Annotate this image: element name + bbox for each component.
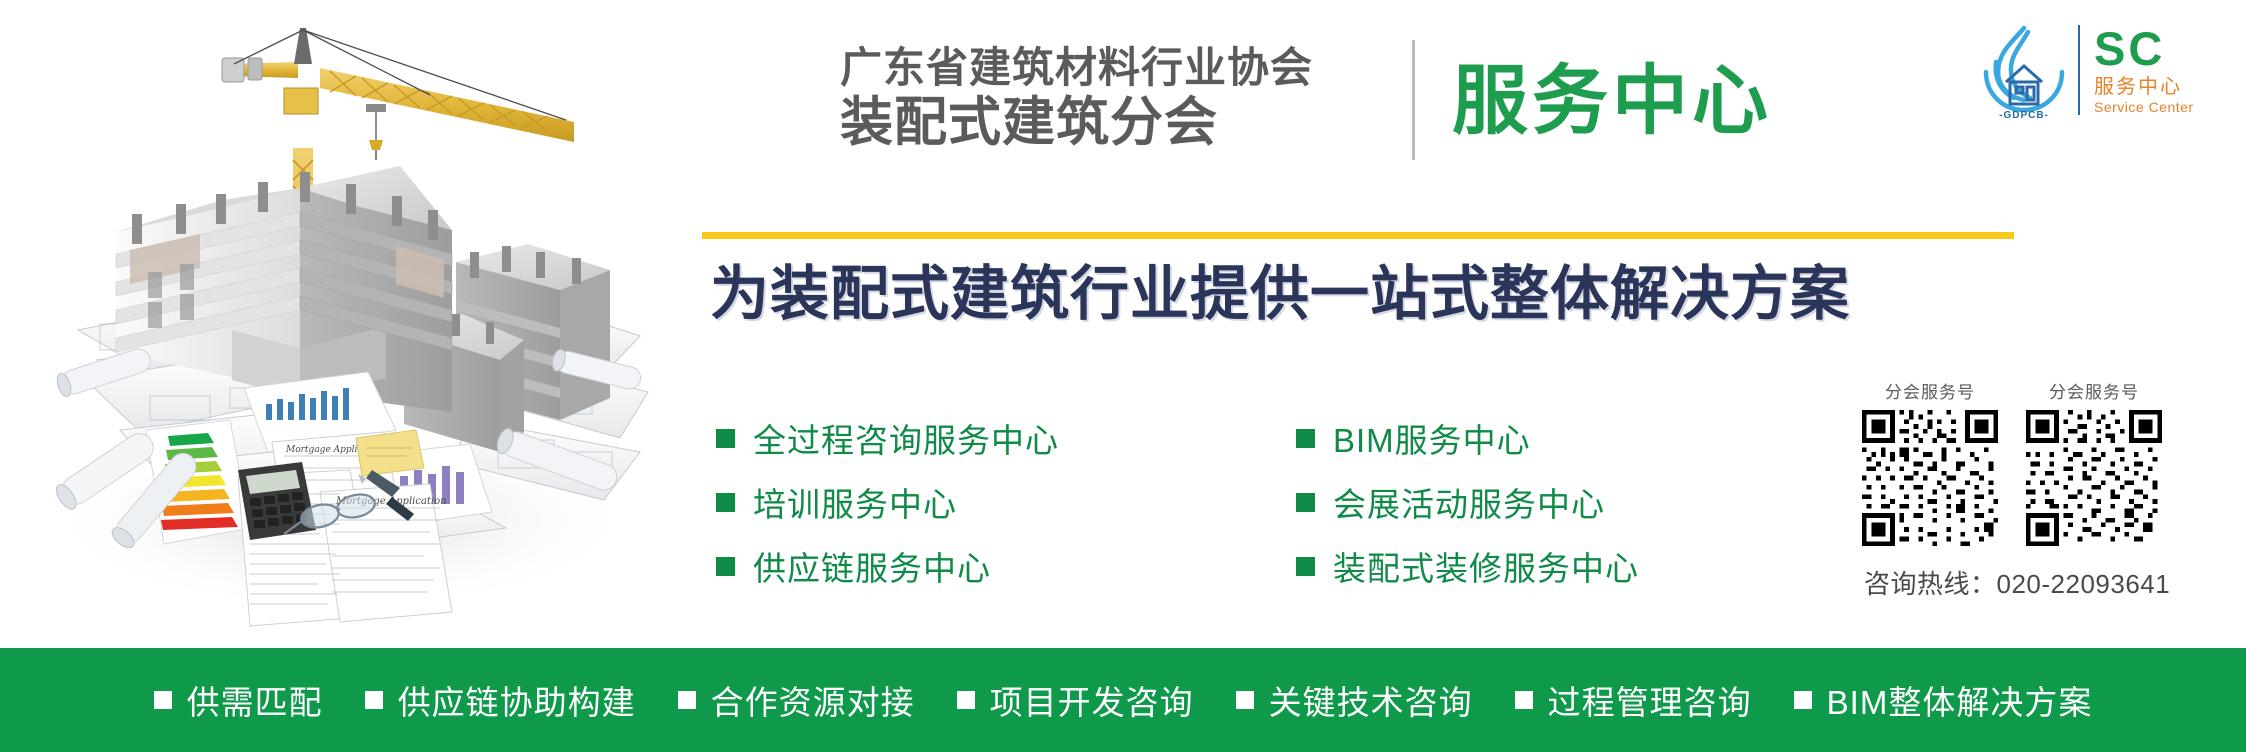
page-title: 为装配式建筑行业提供一站式整体解决方案: [710, 258, 2030, 330]
service-label: 全过程咨询服务中心: [753, 414, 1059, 462]
gdpcb-house-flame-logo-icon: -GDPCB-: [1978, 20, 2070, 120]
bar-item[interactable]: 合作资源对接: [678, 676, 915, 724]
association-name-line2: 装配式建筑分会: [840, 94, 1480, 152]
bar-item-label: 关键技术咨询: [1269, 676, 1473, 724]
list-item[interactable]: 全过程咨询服务中心: [716, 406, 1059, 470]
square-bullet-icon: [716, 557, 735, 576]
construction-illustration-svg: Mortgage Application Mortgage Applicatio…: [0, 0, 660, 642]
logo-en-label: Service Center: [2094, 99, 2194, 116]
square-bullet-icon: [154, 691, 172, 709]
logo: -GDPCB- SC 服务中心 Service Center: [1978, 16, 2240, 124]
service-label: 培训服务中心: [753, 478, 957, 526]
qr-caption: 分会服务号: [1862, 378, 1998, 403]
list-item[interactable]: 供应链服务中心: [716, 534, 1059, 598]
qr-row: 分会服务号: [1862, 378, 2232, 546]
bar-item[interactable]: 项目开发咨询: [957, 676, 1194, 724]
bar-item-label: 项目开发咨询: [990, 676, 1194, 724]
square-bullet-icon: [716, 429, 735, 448]
bar-item[interactable]: 过程管理咨询: [1515, 676, 1752, 724]
bar-item[interactable]: 供应链协助构建: [365, 676, 636, 724]
service-list-right: BIM服务中心 会展活动服务中心 装配式装修服务中心: [1296, 406, 1639, 598]
qr-cell: 分会服务号: [2026, 378, 2162, 546]
logo-sc-text: SC: [2094, 25, 2194, 72]
bar-item-label: 合作资源对接: [711, 676, 915, 724]
qr-code-2[interactable]: [2026, 410, 2162, 546]
logo-cn-label: 服务中心: [2094, 75, 2194, 99]
square-bullet-icon: [1236, 691, 1254, 709]
logo-mark-caption: -GDPCB-: [1999, 110, 2049, 120]
service-list-left: 全过程咨询服务中心 培训服务中心 供应链服务中心: [716, 406, 1059, 598]
list-item[interactable]: 会展活动服务中心: [1296, 470, 1639, 534]
banner-root: Mortgage Application Mortgage Applicatio…: [0, 0, 2246, 752]
logo-wordmark: SC 服务中心 Service Center: [2094, 25, 2194, 116]
service-label: 会展活动服务中心: [1333, 478, 1605, 526]
gold-divider-rule: [702, 232, 2014, 239]
sticky-note: [356, 430, 424, 476]
logo-divider: [2078, 25, 2080, 115]
qr-caption: 分会服务号: [2026, 378, 2162, 403]
square-bullet-icon: [1296, 493, 1315, 512]
square-bullet-icon: [1296, 557, 1315, 576]
qr-code-1[interactable]: [1862, 410, 1998, 546]
association-title: 广东省建筑材料行业协会 装配式建筑分会: [840, 44, 1480, 152]
square-bullet-icon: [957, 691, 975, 709]
calculator: [238, 462, 316, 540]
bar-item-label: BIM整体解决方案: [1827, 676, 2093, 724]
square-bullet-icon: [1794, 691, 1812, 709]
construction-illustration: Mortgage Application Mortgage Applicatio…: [0, 0, 660, 642]
bar-item[interactable]: BIM整体解决方案: [1794, 676, 2093, 724]
square-bullet-icon: [678, 691, 696, 709]
qr-contact-area: 分会服务号: [1862, 378, 2232, 601]
list-item[interactable]: BIM服务中心: [1296, 406, 1639, 470]
square-bullet-icon: [1515, 691, 1533, 709]
service-label: 供应链服务中心: [753, 542, 991, 590]
title-vertical-divider: [1412, 40, 1415, 160]
square-bullet-icon: [716, 493, 735, 512]
square-bullet-icon: [1296, 429, 1315, 448]
bar-item-label: 供需匹配: [187, 676, 323, 724]
bar-item-label: 过程管理咨询: [1548, 676, 1752, 724]
service-label: BIM服务中心: [1333, 414, 1531, 462]
bar-item-label: 供应链协助构建: [398, 676, 636, 724]
bottom-service-bar: 供需匹配 供应链协助构建 合作资源对接 项目开发咨询 关键技术咨询 过程管理咨询…: [0, 648, 2246, 752]
list-item[interactable]: 培训服务中心: [716, 470, 1059, 534]
service-center-heading: 服务中心: [1452, 58, 1772, 146]
hotline-text: 咨询热线：020-22093641: [1862, 564, 2232, 601]
bar-item[interactable]: 供需匹配: [154, 676, 323, 724]
association-name-line1: 广东省建筑材料行业协会: [840, 44, 1480, 92]
bar-item[interactable]: 关键技术咨询: [1236, 676, 1473, 724]
list-item[interactable]: 装配式装修服务中心: [1296, 534, 1639, 598]
qr-cell: 分会服务号: [1862, 378, 1998, 546]
service-label: 装配式装修服务中心: [1333, 542, 1639, 590]
square-bullet-icon: [365, 691, 383, 709]
